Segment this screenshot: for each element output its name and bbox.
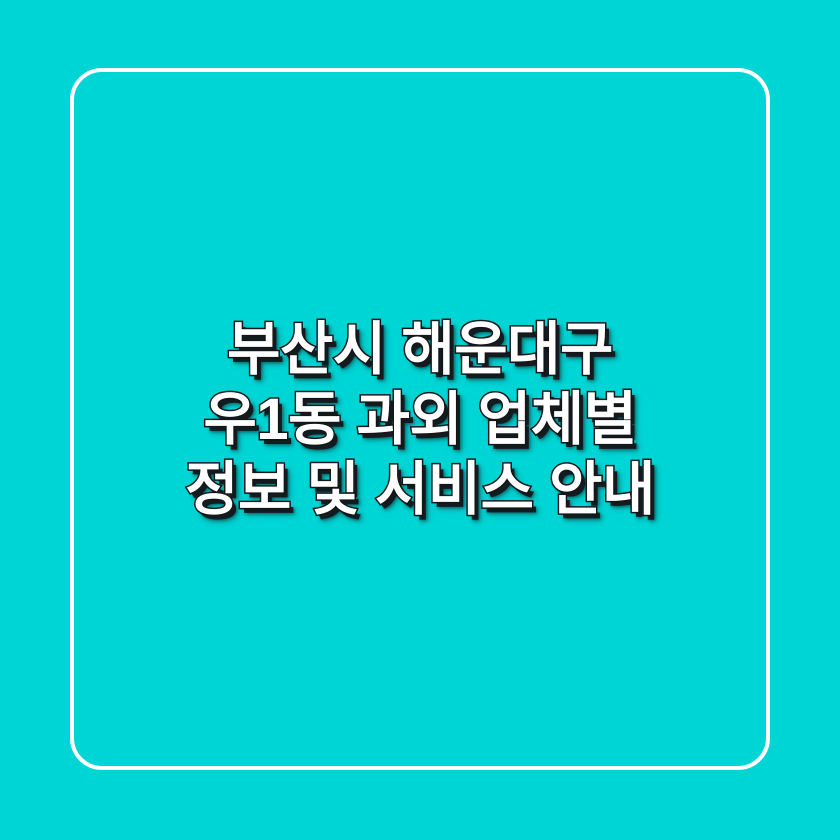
headline-line-1: 부산시 해운대구 [96,315,744,385]
headline-block: 부산시 해운대구 우1동 과외 업체별 정보 및 서비스 안내 [0,0,840,840]
thumbnail-card: 부산시 해운대구 우1동 과외 업체별 정보 및 서비스 안내 [0,0,840,840]
headline-line-2: 우1동 과외 업체별 [96,385,744,455]
headline-line-3: 정보 및 서비스 안내 [96,455,744,525]
